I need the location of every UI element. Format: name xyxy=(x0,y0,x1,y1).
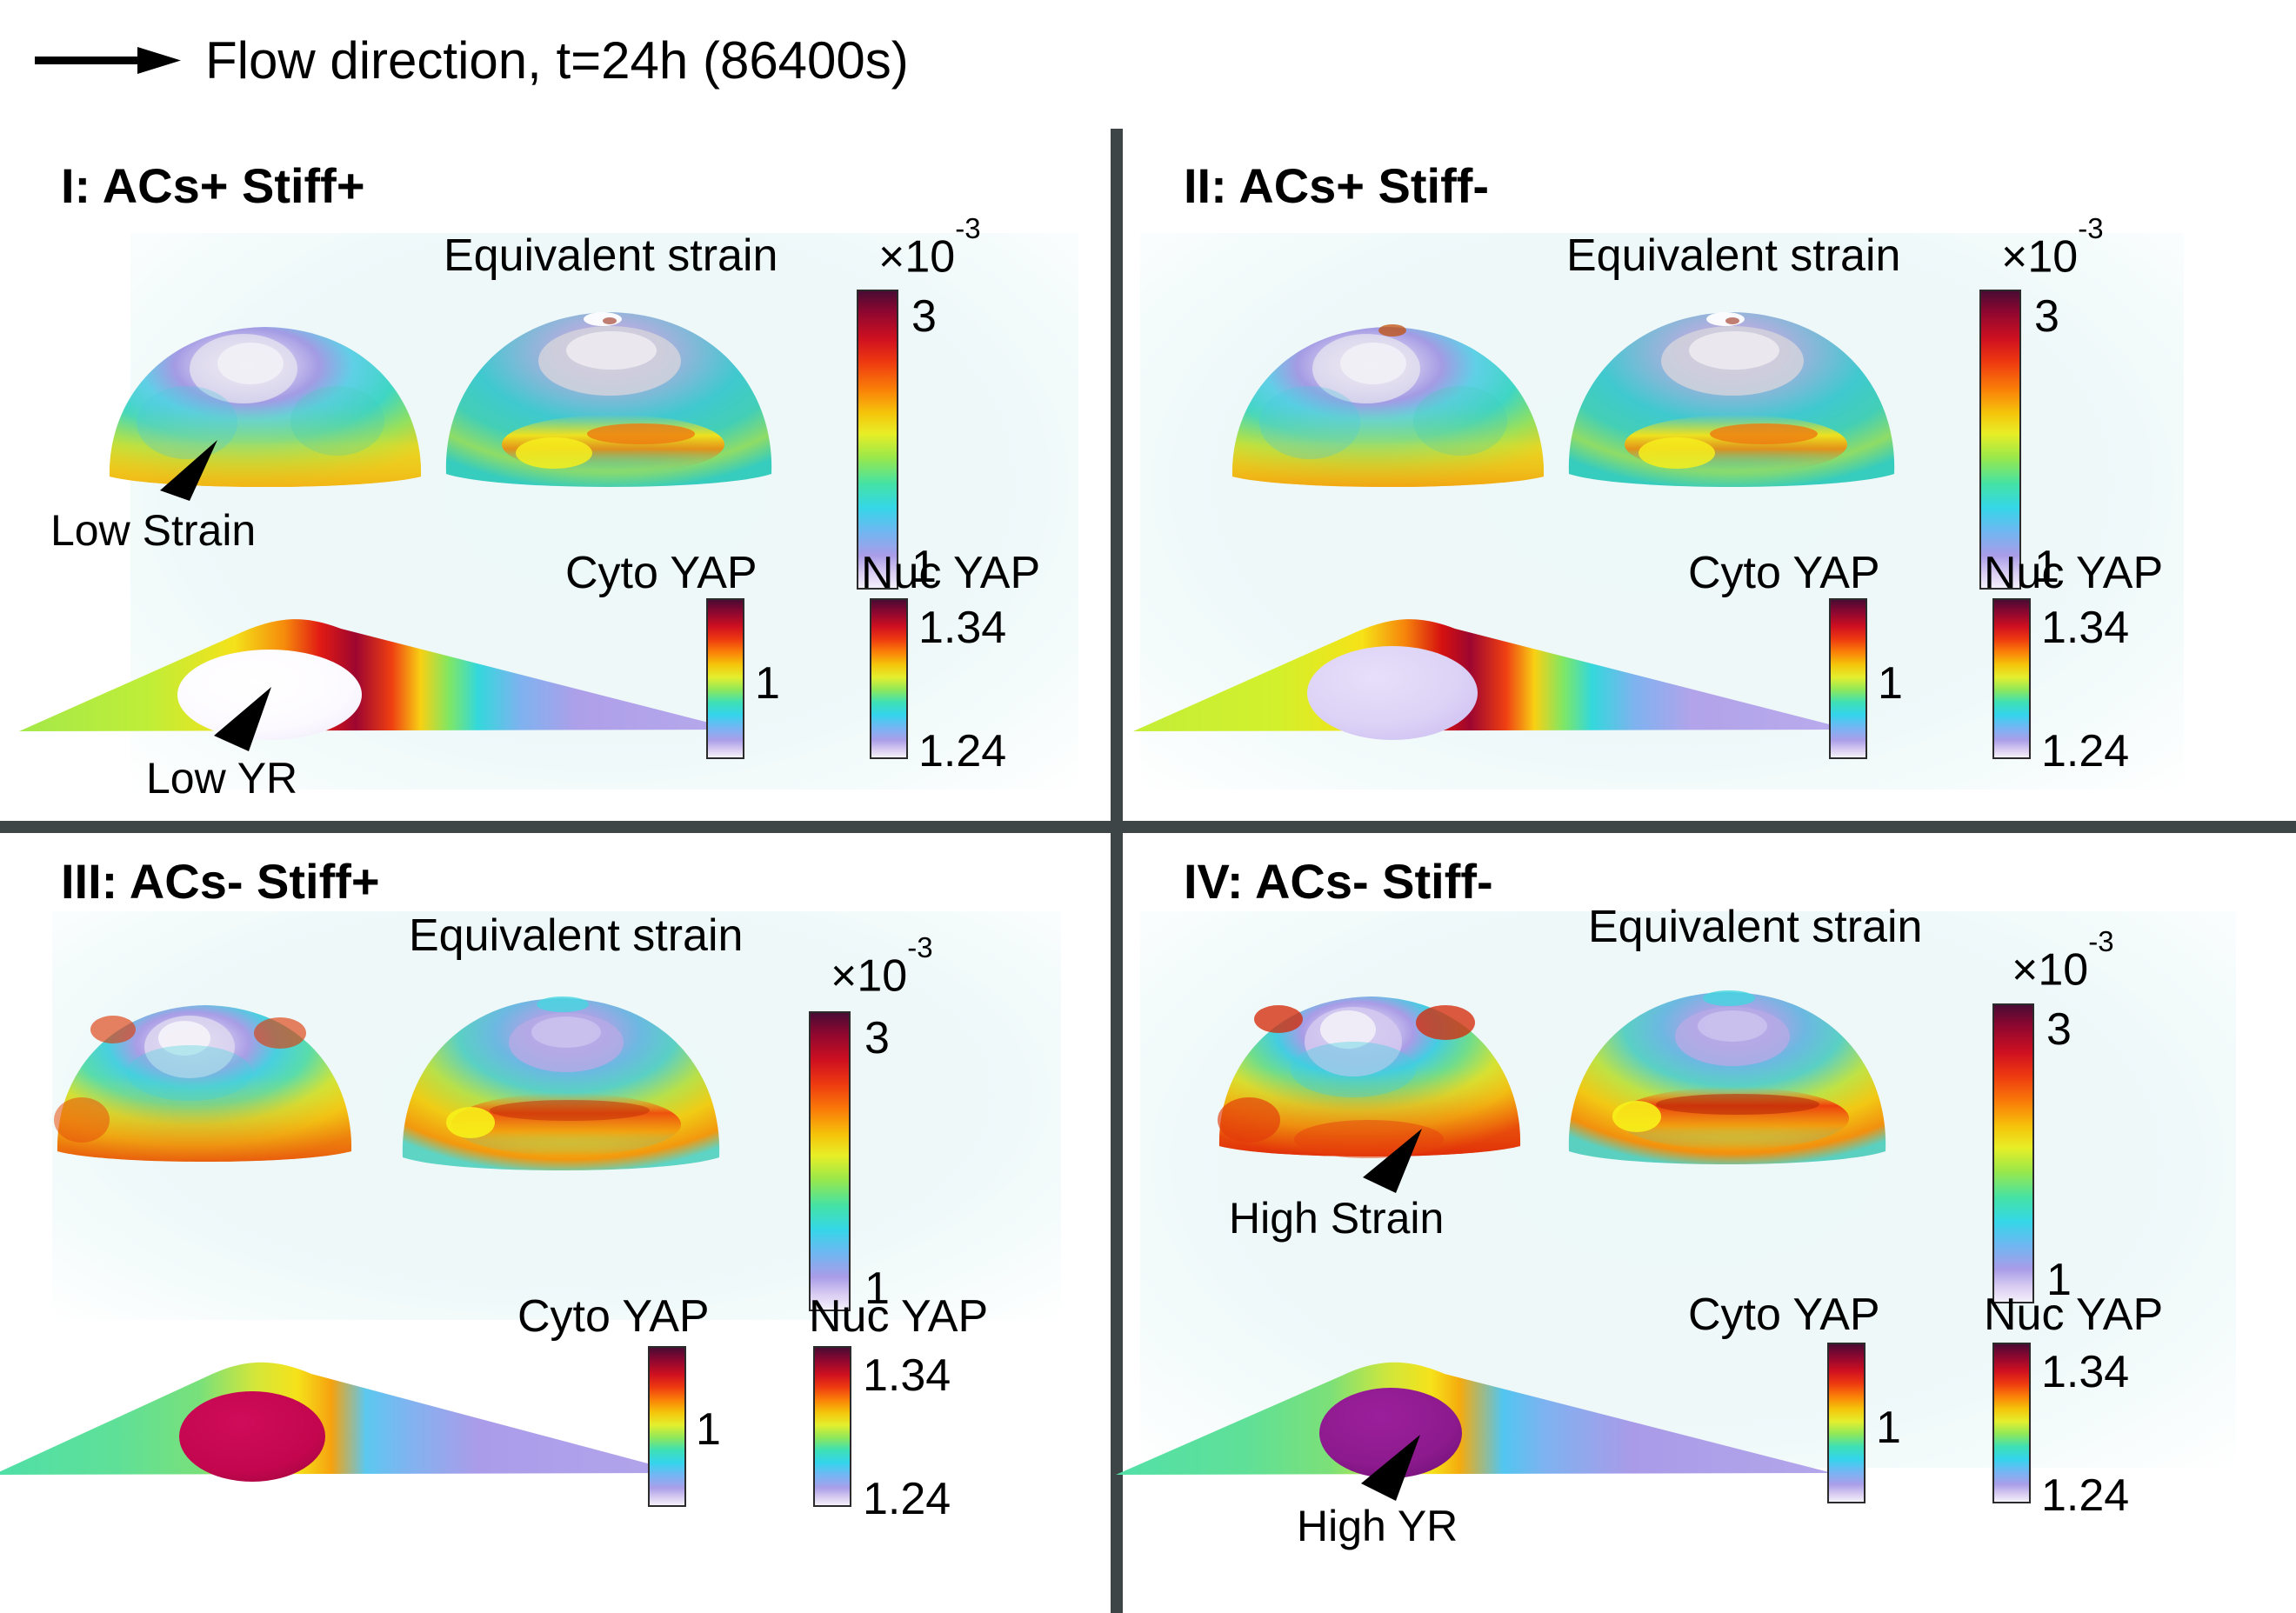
cell-dome-left-II xyxy=(1227,318,1549,492)
strain-colorbar-III xyxy=(809,1011,851,1311)
cyto-yap-title-II: Cyto YAP xyxy=(1688,550,1880,596)
strain-exponent-III: ×10-3 xyxy=(831,950,933,998)
strain-exponent-prefix: ×10 xyxy=(878,231,955,282)
cyto-yap-title-I: Cyto YAP xyxy=(565,550,758,596)
cell-dome-right-III xyxy=(396,994,726,1176)
quadrant-III-title: III: ACs- Stiff+ xyxy=(61,857,380,906)
strain-colorbar-I xyxy=(857,290,898,590)
nuc-yap-colorbar-II xyxy=(1992,598,2031,759)
nuc-yap-title-I: Nuc YAP xyxy=(861,550,1040,596)
strain-legend-title-III: Equivalent strain xyxy=(409,913,743,958)
cell-dome-left-III xyxy=(52,998,357,1168)
annotation-high-strain: High Strain xyxy=(1229,1196,1444,1240)
strain-colorbar-tick-max-II: 3 xyxy=(2034,294,2059,339)
quadrant-IV: IV: ACs- Stiff- xyxy=(1123,833,2296,1613)
cyto-yap-colorbar-I xyxy=(706,598,744,759)
cell-dome-right-I xyxy=(439,307,778,494)
strain-colorbar-tick-max-III: 3 xyxy=(864,1016,890,1061)
annotation-high-yr: High YR xyxy=(1297,1504,1458,1548)
right-arrow-icon xyxy=(35,41,183,81)
nuc-yap-tick-max-I: 1.34 xyxy=(918,605,1006,650)
high-yr-pointer-icon xyxy=(1356,1433,1427,1503)
cell-cross-section-II xyxy=(1131,603,1853,750)
annotation-low-strain: Low Strain xyxy=(50,509,256,552)
annotation-low-yr: Low YR xyxy=(146,757,297,800)
nuc-yap-tick-min-III: 1.24 xyxy=(863,1476,951,1522)
strain-legend-title-II: Equivalent strain xyxy=(1566,233,1900,278)
strain-exponent-prefix: ×10 xyxy=(831,950,907,1001)
nuc-yap-colorbar-I xyxy=(870,598,908,759)
strain-exponent-value: -3 xyxy=(2078,212,2103,244)
low-yr-pointer-icon xyxy=(209,685,278,753)
strain-colorbar-II xyxy=(1979,290,2021,590)
strain-exponent-value: -3 xyxy=(955,212,980,244)
nuc-yap-tick-max-II: 1.34 xyxy=(2041,605,2129,650)
low-strain-pointer-icon xyxy=(155,438,224,503)
strain-exponent-I: ×10-3 xyxy=(878,231,981,279)
nuc-yap-tick-min-II: 1.24 xyxy=(2041,729,2129,774)
cyto-yap-title-III: Cyto YAP xyxy=(517,1294,710,1339)
strain-legend-title-IV: Equivalent strain xyxy=(1588,904,1922,950)
nuc-yap-tick-max-IV: 1.34 xyxy=(2041,1350,2129,1395)
cyto-yap-title-IV: Cyto YAP xyxy=(1688,1292,1880,1337)
cell-cross-section-IV xyxy=(1114,1346,1836,1503)
strain-exponent-prefix: ×10 xyxy=(2012,944,2088,995)
quadrant-III: III: ACs- Stiff+ xyxy=(0,833,1111,1613)
cyto-yap-tick-IV: 1 xyxy=(1876,1405,1901,1450)
strain-legend-title-I: Equivalent strain xyxy=(444,233,778,278)
nuc-yap-title-IV: Nuc YAP xyxy=(1984,1292,2163,1337)
strain-exponent-IV: ×10-3 xyxy=(2012,944,2114,992)
strain-exponent-prefix: ×10 xyxy=(2001,231,2078,282)
quadrant-II: II: ACs+ Stiff- xyxy=(1123,129,2296,821)
flow-direction-label: Flow direction, t=24h (86400s) xyxy=(205,35,909,87)
nuc-yap-title-II: Nuc YAP xyxy=(1984,550,2163,596)
cell-cross-section-III xyxy=(0,1346,687,1503)
cell-cross-section-I xyxy=(17,603,739,750)
cell-dome-right-IV xyxy=(1562,988,1892,1170)
strain-colorbar-tick-max-I: 3 xyxy=(911,294,937,339)
cyto-yap-tick-I: 1 xyxy=(755,661,780,706)
cyto-yap-colorbar-IV xyxy=(1827,1343,1865,1503)
cyto-yap-colorbar-III xyxy=(648,1346,686,1507)
cyto-yap-colorbar-II xyxy=(1829,598,1867,759)
cell-dome-right-II xyxy=(1562,307,1901,494)
cyto-yap-tick-II: 1 xyxy=(1878,661,1903,706)
strain-exponent-value: -3 xyxy=(2088,925,2113,957)
nuc-yap-colorbar-IV xyxy=(1992,1343,2031,1503)
cyto-yap-tick-III: 1 xyxy=(696,1407,721,1452)
nuc-yap-colorbar-III xyxy=(813,1346,851,1507)
quadrant-I-title: I: ACs+ Stiff+ xyxy=(61,162,365,210)
quadrant-II-title: II: ACs+ Stiff- xyxy=(1184,162,1489,210)
quadrant-I: I: ACs+ Stiff+ xyxy=(0,129,1111,821)
strain-colorbar-IV xyxy=(1992,1003,2034,1303)
nuc-yap-tick-min-I: 1.24 xyxy=(918,729,1006,774)
strain-exponent-II: ×10-3 xyxy=(2001,231,2104,279)
quadrant-divider-horizontal xyxy=(0,821,2296,833)
flow-direction-header: Flow direction, t=24h (86400s) xyxy=(35,35,909,87)
strain-colorbar-tick-max-IV: 3 xyxy=(2046,1007,2072,1052)
nuc-yap-title-III: Nuc YAP xyxy=(809,1294,988,1339)
cell-dome-left-I xyxy=(104,318,426,492)
figure-root: Flow direction, t=24h (86400s) I: ACs+ S… xyxy=(0,0,2296,1613)
nuc-yap-tick-max-III: 1.34 xyxy=(863,1353,951,1398)
strain-exponent-value: -3 xyxy=(907,931,932,963)
high-strain-pointer-icon xyxy=(1358,1127,1429,1195)
quadrant-IV-title: IV: ACs- Stiff- xyxy=(1184,857,1493,906)
nuc-yap-tick-min-IV: 1.24 xyxy=(2041,1473,2129,1518)
